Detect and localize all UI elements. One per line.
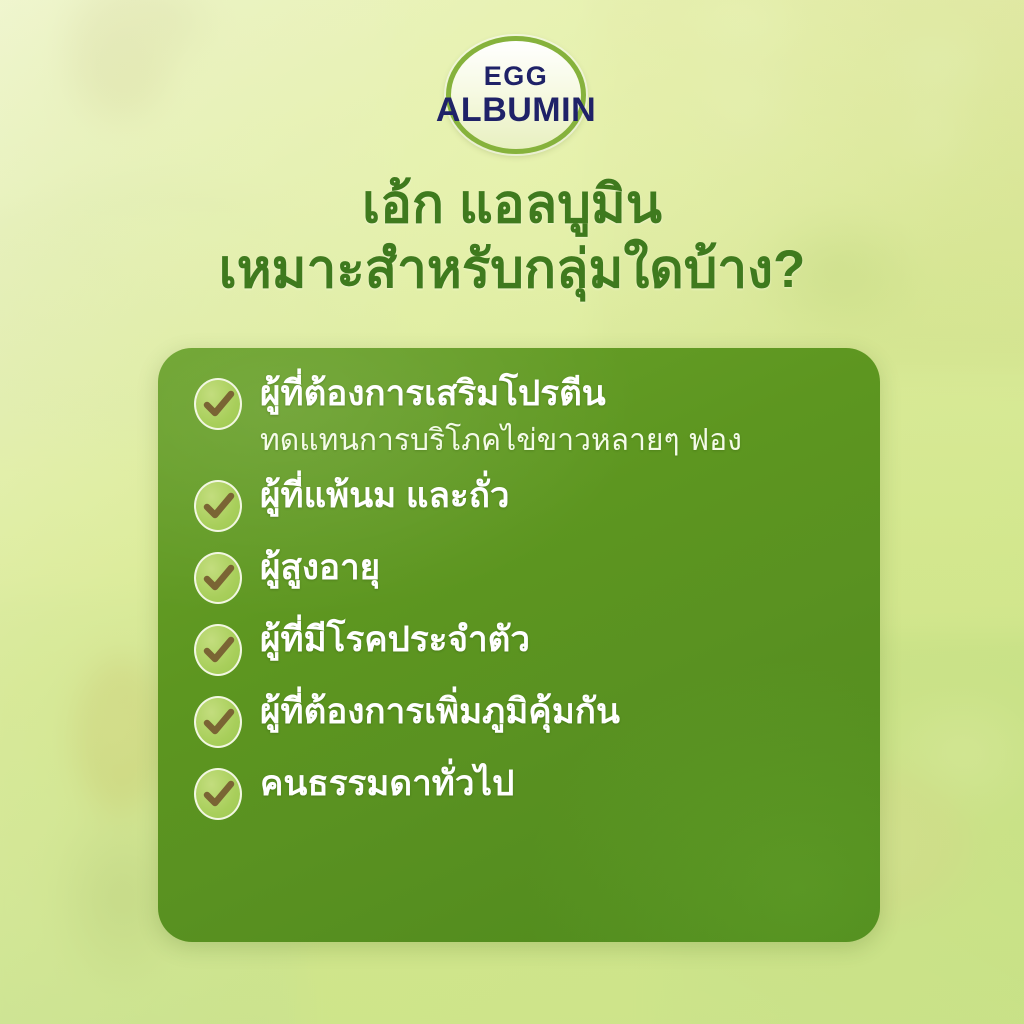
list-item: ผู้ที่ต้องการเสริมโปรตีน ทดแทนการบริโภคไ… [194, 372, 858, 460]
list-item-title: ผู้ที่ต้องการเสริมโปรตีน [260, 372, 742, 417]
check-icon [194, 696, 242, 748]
list-item-title: ผู้ที่มีโรคประจำตัว [260, 618, 530, 663]
headline: เอ้ก แอลบูมิน เหมาะสำหรับกลุ่มใดบ้าง? [0, 176, 1024, 298]
check-icon [194, 378, 242, 430]
check-icon [194, 768, 242, 820]
egg-albumin-logo: EGG ALBUMIN [446, 36, 586, 154]
list-item-text: ผู้สูงอายุ [260, 546, 380, 591]
list-item: ผู้ที่ต้องการเพิ่มภูมิคุ้มกัน [194, 690, 858, 748]
list-item: ผู้ที่มีโรคประจำตัว [194, 618, 858, 676]
list-item-title: ผู้สูงอายุ [260, 546, 380, 591]
headline-line-1: เอ้ก แอลบูมิน [0, 176, 1024, 233]
list-item-text: ผู้ที่ต้องการเสริมโปรตีน ทดแทนการบริโภคไ… [260, 372, 742, 460]
list-item-text: ผู้ที่มีโรคประจำตัว [260, 618, 530, 663]
list-item-text: คนธรรมดาทั่วไป [260, 762, 514, 807]
list-item-title: คนธรรมดาทั่วไป [260, 762, 514, 807]
list-item-text: ผู้ที่แพ้นม และถั่ว [260, 474, 510, 519]
benefits-list: ผู้ที่ต้องการเสริมโปรตีน ทดแทนการบริโภคไ… [194, 372, 858, 826]
list-item-title: ผู้ที่ต้องการเพิ่มภูมิคุ้มกัน [260, 690, 620, 735]
benefits-card: ผู้ที่ต้องการเสริมโปรตีน ทดแทนการบริโภคไ… [158, 348, 880, 942]
logo-line-albumin: ALBUMIN [436, 93, 596, 127]
list-item: ผู้สูงอายุ [194, 546, 858, 604]
poster-canvas: EGG ALBUMIN เอ้ก แอลบูมิน เหมาะสำหรับกลุ… [0, 0, 1024, 1024]
logo-line-egg: EGG [484, 63, 549, 90]
list-item: คนธรรมดาทั่วไป [194, 762, 858, 820]
list-item-text: ผู้ที่ต้องการเพิ่มภูมิคุ้มกัน [260, 690, 620, 735]
list-item-subtitle: ทดแทนการบริโภคไข่ขาวหลายๆ ฟอง [260, 421, 742, 461]
check-icon [194, 480, 242, 532]
check-icon [194, 624, 242, 676]
headline-line-2: เหมาะสำหรับกลุ่มใดบ้าง? [0, 241, 1024, 298]
list-item: ผู้ที่แพ้นม และถั่ว [194, 474, 858, 532]
list-item-title: ผู้ที่แพ้นม และถั่ว [260, 474, 510, 519]
check-icon [194, 552, 242, 604]
